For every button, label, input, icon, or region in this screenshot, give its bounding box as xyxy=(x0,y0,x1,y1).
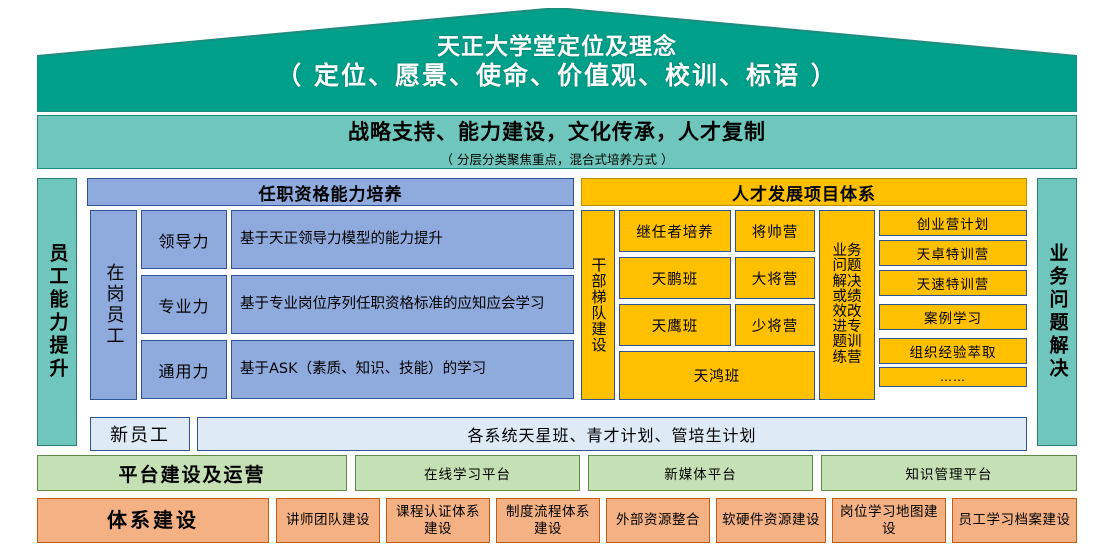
talent-extra-item: 创业营计划 xyxy=(879,210,1027,236)
left-pillar-label: 员工能力提升 xyxy=(48,243,67,381)
on-job-employee-tag: 在岗员工 xyxy=(90,210,137,400)
cadre-echelon-tag: 干部梯队建设 xyxy=(581,210,615,400)
platform-item: 新媒体平台 xyxy=(588,455,813,491)
system-construction-row: 体系建设 讲师团队建设 课程认证体系建设 制度流程体系建设 外部资源整合 软硬件… xyxy=(37,498,1077,543)
on-job-employee-label: 在岗员工 xyxy=(105,263,123,347)
right-pillar-label: 业务问题解决 xyxy=(1048,243,1067,381)
talent-development-panel: 人才发展项目体系 干部梯队建设 继任者培养 将帅营 天鹏班 大将营 天鹰班 少将… xyxy=(581,178,1027,413)
platform-row: 平台建设及运营 在线学习平台 新媒体平台 知识管理平台 xyxy=(37,455,1077,491)
capability-name: 领导力 xyxy=(141,210,227,269)
left-pillar-employee-capability: 员工能力提升 xyxy=(37,178,77,446)
talent-program-cell: 天鸿班 xyxy=(619,351,815,400)
capability-name: 专业力 xyxy=(141,275,227,334)
capability-row: 通用力 基于ASK（素质、知识、技能）的学习 xyxy=(141,340,574,399)
talent-development-title: 人才发展项目体系 xyxy=(581,178,1027,206)
system-item: 外部资源整合 xyxy=(606,498,710,543)
capability-name: 通用力 xyxy=(141,340,227,399)
capability-desc: 基于天正领导力模型的能力提升 xyxy=(231,210,574,269)
capability-row: 专业力 基于专业岗位序列任职资格标准的应知应会学习 xyxy=(141,275,574,334)
roof-text-block: 天正大学堂定位及理念 （ 定位、愿景、使命、价值观、校训、标语 ） xyxy=(37,34,1077,91)
right-pillar-business-problem: 业务问题解决 xyxy=(1037,178,1077,446)
roof-title-line1: 天正大学堂定位及理念 xyxy=(37,34,1077,61)
talent-program-cell: 少将营 xyxy=(735,304,815,346)
band-headline: 战略支持、能力建设，文化传承，人才复制 xyxy=(348,116,766,146)
talent-extra-item: 天速特训营 xyxy=(879,270,1027,296)
system-item: 岗位学习地图建设 xyxy=(832,498,946,543)
org-diagram-canvas: 天正大学堂定位及理念 （ 定位、愿景、使命、价值观、校训、标语 ） 战略支持、能… xyxy=(0,0,1114,551)
platform-item: 在线学习平台 xyxy=(355,455,580,491)
center-panels: 任职资格能力培养 在岗员工 领导力 基于天正领导力模型的能力提升 专业力 基于专… xyxy=(87,173,1027,451)
capability-rows: 领导力 基于天正领导力模型的能力提升 专业力 基于专业岗位序列任职资格标准的应知… xyxy=(141,210,574,400)
system-item: 制度流程体系建设 xyxy=(496,498,600,543)
system-item: 员工学习档案建设 xyxy=(952,498,1077,543)
cadre-echelon-label: 干部梯队建设 xyxy=(591,257,606,353)
system-item: 软硬件资源建设 xyxy=(716,498,826,543)
body-area: 员工能力提升 业务问题解决 任职资格能力培养 在岗员工 领导力 基于天正领导力模… xyxy=(37,173,1077,451)
platform-lead-label: 平台建设及运营 xyxy=(37,455,347,491)
business-problem-camp-label: 业务问题解决或绩效改进专题训练营 xyxy=(827,244,867,366)
capability-desc: 基于ASK（素质、知识、技能）的学习 xyxy=(231,340,574,399)
platform-item: 知识管理平台 xyxy=(821,455,1077,491)
capability-desc: 基于专业岗位序列任职资格标准的应知应会学习 xyxy=(231,275,574,334)
talent-extra-item-ellipsis: …… xyxy=(879,367,1027,387)
strategy-band: 战略支持、能力建设，文化传承，人才复制 （ 分层分类聚焦重点，混合式培养方式 ） xyxy=(37,115,1077,169)
system-item: 课程认证体系建设 xyxy=(386,498,490,543)
talent-program-cell: 天鹏班 xyxy=(619,257,731,299)
band-subline: （ 分层分类聚焦重点，混合式培养方式 ） xyxy=(441,149,674,168)
talent-program-grid: 继任者培养 将帅营 天鹏班 大将营 天鹰班 少将营 天鸿班 xyxy=(619,210,815,400)
talent-extra-item: 案例学习 xyxy=(879,304,1027,330)
new-employee-row: 新员工 各系统天星班、青才计划、管培生计划 xyxy=(87,417,1027,451)
qualification-title: 任职资格能力培养 xyxy=(87,178,574,206)
talent-program-cell: 继任者培养 xyxy=(619,210,731,252)
system-lead-label: 体系建设 xyxy=(37,498,269,543)
qualification-panel: 任职资格能力培养 在岗员工 领导力 基于天正领导力模型的能力提升 专业力 基于专… xyxy=(87,178,574,413)
capability-row: 领导力 基于天正领导力模型的能力提升 xyxy=(141,210,574,269)
roof-banner: 天正大学堂定位及理念 （ 定位、愿景、使命、价值观、校训、标语 ） xyxy=(37,8,1077,112)
business-problem-camp-tag: 业务问题解决或绩效改进专题训练营 xyxy=(819,210,875,400)
talent-program-cell: 天鹰班 xyxy=(619,304,731,346)
talent-extra-list: 创业营计划 天卓特训营 天速特训营 案例学习 组织经验萃取 …… xyxy=(879,210,1027,400)
talent-extra-item: 天卓特训营 xyxy=(879,240,1027,266)
talent-extra-item: 组织经验萃取 xyxy=(879,338,1027,364)
roof-title-line2: （ 定位、愿景、使命、价值观、校训、标语 ） xyxy=(37,61,1077,91)
new-employee-programs: 各系统天星班、青才计划、管培生计划 xyxy=(197,417,1027,451)
system-item: 讲师团队建设 xyxy=(276,498,380,543)
new-employee-tag: 新员工 xyxy=(90,417,190,451)
talent-program-cell: 大将营 xyxy=(735,257,815,299)
talent-program-cell: 将帅营 xyxy=(735,210,815,252)
